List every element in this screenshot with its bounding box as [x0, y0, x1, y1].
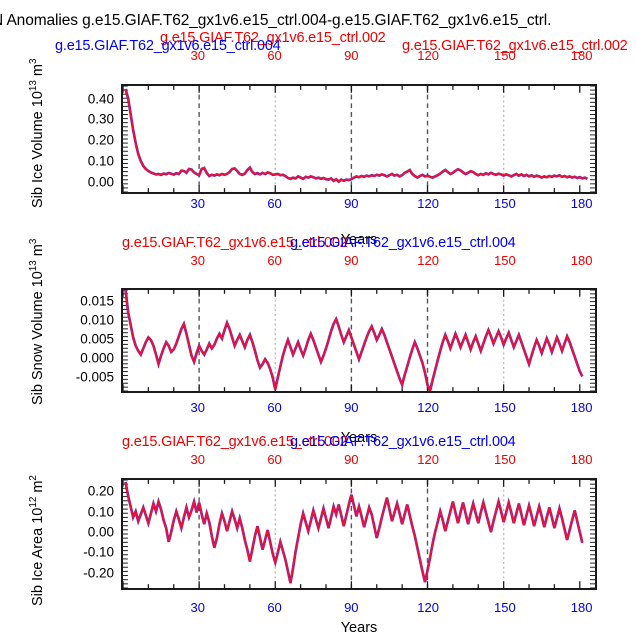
y-axis-label-unit: m — [30, 64, 46, 76]
x-tick-top-90: 90 — [344, 48, 358, 63]
y-axis-label-text: Sib Snow Volume 10 — [30, 271, 46, 405]
series-line-blue-sib-ice-volume — [126, 89, 588, 182]
x-tick-top-150: 150 — [494, 253, 516, 268]
x-axis-bottom-ticks-sib-ice-area: 306090120150180 — [0, 600, 638, 616]
x-tick-top-60: 60 — [267, 253, 281, 268]
x-tick-top-90: 90 — [344, 253, 358, 268]
x-tick-bottom-150: 150 — [494, 196, 516, 211]
x-tick-top-30: 30 — [191, 253, 205, 268]
y-tick-sib-ice-volume-3: 0.10 — [58, 153, 114, 168]
y-tick-sib-ice-area-1: 0.10 — [58, 504, 114, 519]
axis-ticks — [123, 480, 595, 588]
x-tick-top-120: 120 — [417, 48, 439, 63]
x-tick-top-30: 30 — [191, 452, 205, 467]
y-tick-sib-ice-area-0: 0.20 — [58, 484, 114, 499]
y-tick-sib-ice-volume-4: 0.00 — [58, 174, 114, 189]
page-title: N Anomalies g.e15.GIAF.T62_gx1v6.e15_ctr… — [0, 12, 638, 30]
y-axis-label-exp: 13 — [28, 260, 39, 271]
y-axis-label-unit: m — [30, 481, 46, 493]
x-tick-bottom-120: 120 — [417, 400, 439, 415]
y-tick-sib-ice-volume-0: 0.40 — [58, 91, 114, 106]
x-tick-top-150: 150 — [494, 452, 516, 467]
x-axis-top-ticks-sib-ice-volume: 306090120150180 — [0, 48, 638, 64]
x-tick-top-150: 150 — [494, 48, 516, 63]
series-line-red-sib-ice-volume — [126, 89, 588, 182]
y-tick-sib-ice-volume-2: 0.20 — [58, 133, 114, 148]
plot-panel-sib-ice-area[interactable] — [121, 478, 597, 590]
x-tick-bottom-180: 180 — [571, 400, 593, 415]
case-label-blue-sib-snow-volume: g.e15.GIAF.T62_gx1v6.e15_ctrl.004 — [290, 235, 516, 251]
x-tick-top-30: 30 — [191, 48, 205, 63]
y-tick-sib-ice-area-2: 0.00 — [58, 524, 114, 539]
y-tick-sib-snow-volume-4: -0.005 — [58, 370, 114, 385]
series-line-red-sib-snow-volume — [126, 290, 583, 391]
y-axis-label-unit-exp: 3 — [28, 239, 39, 244]
y-tick-sib-ice-area-3: -0.10 — [58, 545, 114, 560]
y-tick-sib-snow-volume-0: 0.015 — [58, 294, 114, 309]
series-line-blue-sib-snow-volume — [126, 290, 583, 391]
x-tick-top-120: 120 — [417, 253, 439, 268]
y-tick-sib-ice-volume-1: 0.30 — [58, 112, 114, 127]
case-label-blue-sib-ice-area: g.e15.GIAF.T62_gx1v6.e15_ctrl.004 — [290, 434, 516, 450]
x-tick-bottom-30: 30 — [191, 400, 205, 415]
x-tick-top-180: 180 — [571, 253, 593, 268]
y-axis-label-unit-exp: 3 — [28, 59, 39, 64]
y-axis-label-exp: 12 — [28, 497, 39, 508]
plot-panel-sib-snow-volume[interactable] — [121, 288, 597, 393]
x-tick-bottom-90: 90 — [344, 600, 358, 615]
x-tick-bottom-60: 60 — [267, 600, 281, 615]
y-tick-sib-snow-volume-3: 0.000 — [58, 351, 114, 366]
plot-panel-sib-ice-volume[interactable] — [121, 84, 597, 194]
x-tick-bottom-30: 30 — [191, 196, 205, 211]
x-tick-top-60: 60 — [267, 452, 281, 467]
axis-ticks — [123, 290, 595, 391]
x-axis-bottom-ticks-sib-ice-volume: 306090120150180 — [0, 196, 638, 212]
y-tick-sib-snow-volume-2: 0.005 — [58, 332, 114, 347]
x-tick-bottom-180: 180 — [571, 600, 593, 615]
x-tick-bottom-90: 90 — [344, 400, 358, 415]
y-tick-sib-ice-area-4: -0.20 — [58, 565, 114, 580]
x-tick-top-60: 60 — [267, 48, 281, 63]
x-tick-bottom-150: 150 — [494, 600, 516, 615]
y-tick-sib-snow-volume-1: 0.010 — [58, 313, 114, 328]
y-axis-label-text: Sib Ice Area 10 — [30, 508, 46, 606]
x-tick-bottom-120: 120 — [417, 600, 439, 615]
x-axis-top-ticks-sib-ice-area: 306090120150180 — [0, 452, 638, 468]
y-axis-label-unit: m — [30, 244, 46, 256]
x-tick-bottom-90: 90 — [344, 196, 358, 211]
y-axis-label-unit-exp: 2 — [28, 475, 39, 480]
x-tick-top-180: 180 — [571, 452, 593, 467]
x-tick-bottom-30: 30 — [191, 600, 205, 615]
x-tick-bottom-60: 60 — [267, 196, 281, 211]
x-tick-bottom-180: 180 — [571, 196, 593, 211]
y-axis-label-sib-snow-volume: Sib Snow Volume 1013 m3 — [28, 239, 46, 405]
x-axis-bottom-ticks-sib-snow-volume: 306090120150180 — [0, 400, 638, 416]
x-tick-top-120: 120 — [417, 452, 439, 467]
series-line-blue-sib-ice-area — [126, 482, 583, 583]
x-tick-top-90: 90 — [344, 452, 358, 467]
y-axis-label-exp: 13 — [28, 80, 39, 91]
y-axis-label-sib-ice-volume: Sib Ice Volume 1013 m3 — [28, 59, 46, 208]
x-tick-top-180: 180 — [571, 48, 593, 63]
x-axis-top-ticks-sib-snow-volume: 306090120150180 — [0, 253, 638, 269]
y-axis-label-text: Sib Ice Volume 10 — [30, 91, 46, 208]
y-axis-label-sib-ice-area: Sib Ice Area 1012 m2 — [28, 475, 46, 606]
x-tick-bottom-120: 120 — [417, 196, 439, 211]
x-axis-caption-sib-ice-area: Years — [121, 620, 597, 636]
x-tick-bottom-150: 150 — [494, 400, 516, 415]
x-tick-bottom-60: 60 — [267, 400, 281, 415]
